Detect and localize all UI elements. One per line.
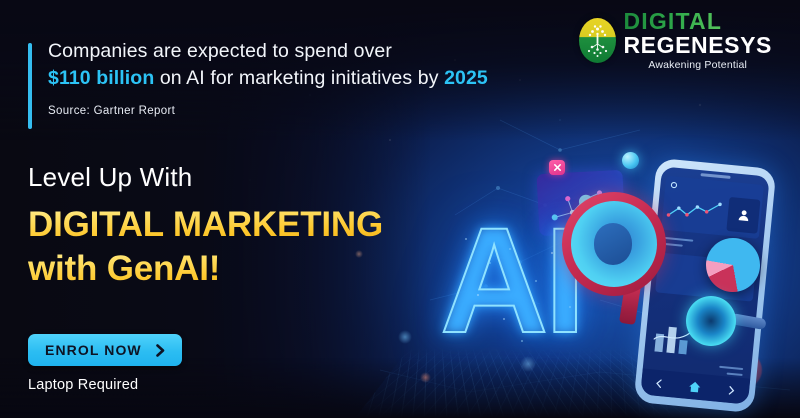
chevron-right-icon bbox=[154, 344, 167, 357]
tree-icon bbox=[579, 18, 616, 63]
brand-word-digital: DIGITAL bbox=[623, 10, 772, 33]
brand-logo[interactable]: DIGITAL REGENESYS Awakening Potential bbox=[579, 10, 772, 71]
statistic-amount: $110 billion bbox=[48, 67, 154, 89]
magnifying-glass-icon bbox=[686, 296, 736, 346]
headline-line-1: DIGITAL MARKETING bbox=[28, 203, 458, 247]
brand-tagline: Awakening Potential bbox=[623, 60, 772, 71]
magnifier-lens bbox=[686, 296, 736, 346]
accent-bar bbox=[28, 43, 32, 129]
phone-text-line bbox=[727, 372, 743, 376]
phone-text-line bbox=[719, 366, 743, 370]
brand-logo-text: DIGITAL REGENESYS Awakening Potential bbox=[623, 10, 772, 71]
user-avatar-icon bbox=[736, 208, 751, 223]
headline-block: Level Up With DIGITAL MARKETING with Gen… bbox=[28, 160, 458, 291]
chevron-left-icon[interactable] bbox=[653, 377, 665, 389]
chevron-right-icon[interactable] bbox=[725, 384, 737, 396]
statistic-line-1: Companies are expected to spend over bbox=[48, 38, 608, 65]
headline-line-2: with GenAI! bbox=[28, 247, 458, 291]
glow-sphere-decoration bbox=[622, 152, 639, 169]
promo-banner: Companies are expected to spend over $11… bbox=[0, 0, 800, 418]
phone-notch bbox=[700, 173, 730, 179]
statistic-line-2-rest: on AI for marketing initiatives by bbox=[154, 67, 444, 89]
statistic-block: Companies are expected to spend over $11… bbox=[48, 38, 608, 117]
cta-block: ENROL NOW Laptop Required bbox=[28, 334, 182, 393]
megaphone-core bbox=[594, 223, 632, 265]
home-icon[interactable] bbox=[688, 379, 702, 393]
statistic-year: 2025 bbox=[444, 67, 488, 89]
megaphone-icon bbox=[562, 192, 690, 296]
brand-word-regenesys: REGENESYS bbox=[623, 34, 772, 57]
gear-icon bbox=[669, 180, 679, 190]
megaphone-cone bbox=[562, 192, 666, 296]
close-x-glyph bbox=[553, 163, 562, 172]
enrol-now-button[interactable]: ENROL NOW bbox=[28, 334, 182, 366]
enrol-now-label: ENROL NOW bbox=[45, 342, 142, 358]
laptop-required-note: Laptop Required bbox=[28, 377, 182, 393]
headline-kicker: Level Up With bbox=[28, 160, 458, 194]
statistic-source: Source: Gartner Report bbox=[48, 105, 608, 117]
tree-icon-glyph bbox=[579, 18, 616, 63]
close-x-icon bbox=[549, 160, 565, 175]
statistic-line-2: $110 billion on AI for marketing initiat… bbox=[48, 65, 608, 92]
user-avatar-card bbox=[726, 197, 760, 234]
